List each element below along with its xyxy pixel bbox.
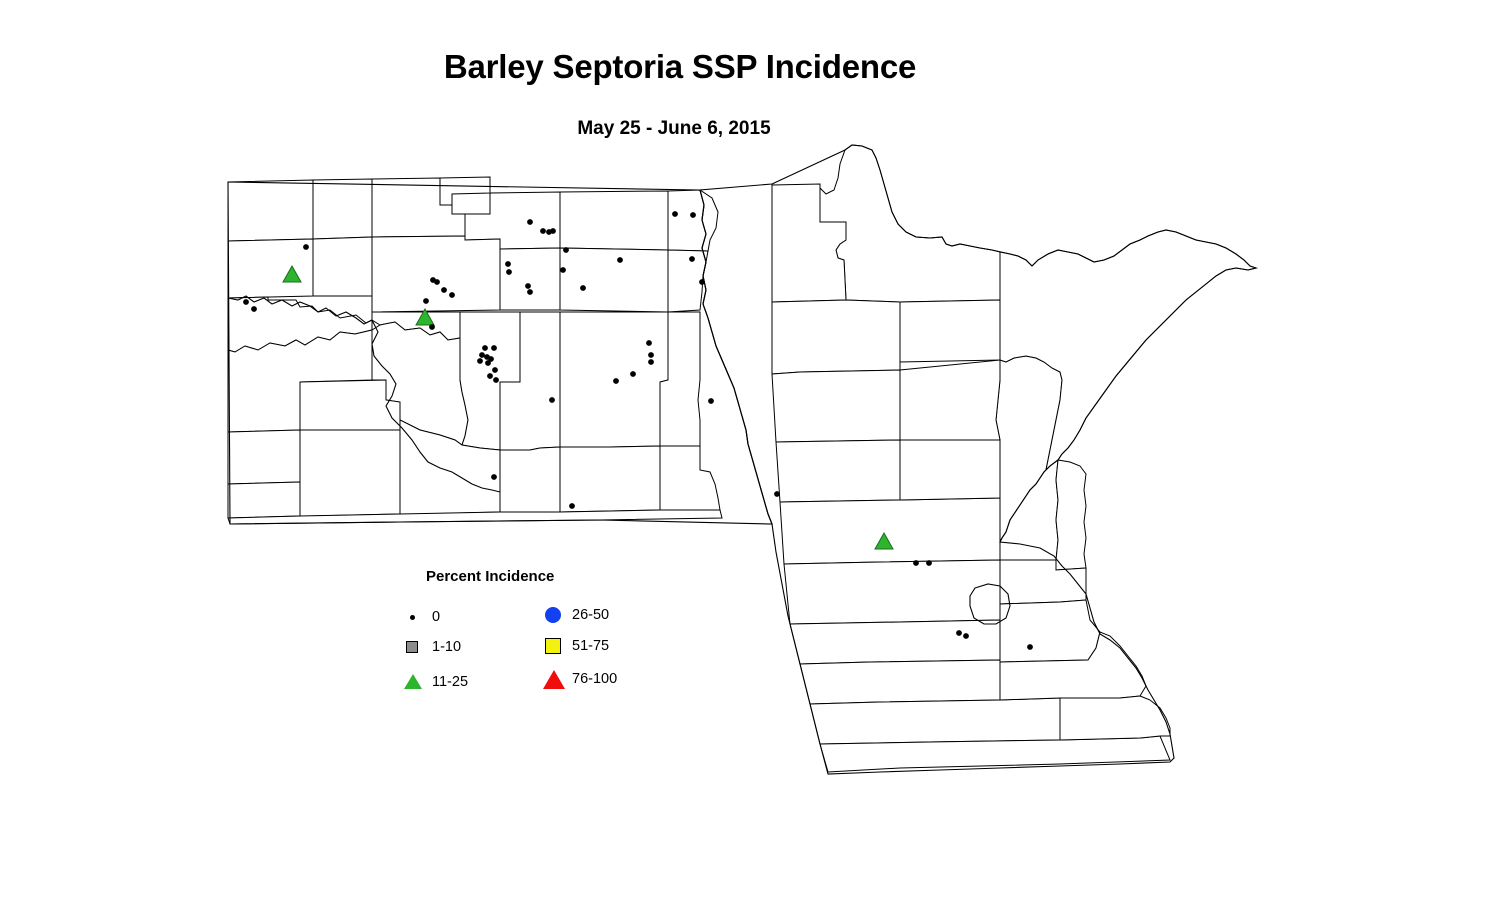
- map-marker-0: [434, 279, 440, 285]
- map-marker-0: [449, 292, 455, 298]
- legend-item-51-75[interactable]: 51-75: [542, 635, 609, 657]
- map-marker-0: [493, 377, 499, 383]
- legend-label-11-25: 11-25: [432, 674, 468, 690]
- map-marker-0: [708, 398, 714, 404]
- map-marker-0: [527, 289, 533, 295]
- map-marker-0: [525, 283, 531, 289]
- north-dakota-counties: [228, 177, 722, 524]
- minnesota-counties: [772, 145, 1256, 772]
- map-marker-0: [423, 298, 429, 304]
- map-page: Barley Septoria SSP Incidence May 25 - J…: [0, 0, 1503, 900]
- map-marker-0: [563, 247, 569, 253]
- legend-symbol-blue-circle: [542, 604, 568, 626]
- legend-item-76-100[interactable]: 76-100: [542, 668, 617, 690]
- map-marker-0: [485, 360, 491, 366]
- map-marker-0: [580, 285, 586, 291]
- map-marker-0: [303, 244, 309, 250]
- legend-label-76-100: 76-100: [572, 671, 617, 687]
- map-marker-0: [913, 560, 919, 566]
- legend-item-11-25[interactable]: 11-25: [402, 671, 468, 693]
- legend-symbol-gray-square: [402, 636, 428, 658]
- map-marker-0: [648, 352, 654, 358]
- legend-item-1-10[interactable]: 1-10: [402, 636, 461, 658]
- legend-label-51-75: 51-75: [572, 638, 609, 654]
- map-marker-0: [774, 491, 780, 497]
- map-marker-0: [487, 373, 493, 379]
- legend: Percent Incidence 0 1-10 11-25 26-50 51-…: [402, 568, 662, 708]
- legend-label-0: 0: [432, 609, 440, 625]
- map-marker-0: [690, 212, 696, 218]
- map-marker-0: [441, 287, 447, 293]
- legend-item-26-50[interactable]: 26-50: [542, 604, 609, 626]
- map-marker-0: [648, 359, 654, 365]
- map-marker-0: [549, 397, 555, 403]
- map-marker-0: [1027, 644, 1033, 650]
- map-marker-0: [689, 256, 695, 262]
- legend-symbol-green-triangle: [402, 671, 428, 693]
- map-marker-0: [482, 345, 488, 351]
- map-marker-0: [540, 228, 546, 234]
- map-marker-0: [505, 261, 511, 267]
- map-marker-0: [617, 257, 623, 263]
- map-marker-0: [646, 340, 652, 346]
- map-marker-0: [429, 324, 435, 330]
- legend-symbol-small-black-dot: [402, 606, 428, 628]
- map-marker-0: [527, 219, 533, 225]
- legend-item-0[interactable]: 0: [402, 606, 440, 628]
- map-marker-0: [550, 228, 556, 234]
- map-marker-0: [963, 633, 969, 639]
- map-marker-0: [956, 630, 962, 636]
- map-marker-0: [569, 503, 575, 509]
- map-marker-0: [243, 299, 249, 305]
- map-marker-0: [613, 378, 619, 384]
- map-marker-0: [491, 345, 497, 351]
- map-svg: [0, 0, 1503, 900]
- map-marker-0: [506, 269, 512, 275]
- map-marker-0: [560, 267, 566, 273]
- legend-symbol-red-triangle: [542, 668, 568, 690]
- legend-symbol-yellow-square: [542, 635, 568, 657]
- map-marker-0: [926, 560, 932, 566]
- legend-label-1-10: 1-10: [432, 639, 461, 655]
- map-marker-0: [477, 358, 483, 364]
- map-marker-0: [630, 371, 636, 377]
- map-marker-0: [492, 367, 498, 373]
- map-marker-0: [479, 352, 485, 358]
- map-marker-0: [699, 279, 705, 285]
- map-marker-0: [672, 211, 678, 217]
- legend-label-26-50: 26-50: [572, 607, 609, 623]
- map-canvas: [0, 0, 1503, 900]
- legend-title: Percent Incidence: [426, 568, 554, 585]
- map-marker-0: [251, 306, 257, 312]
- map-marker-0: [491, 474, 497, 480]
